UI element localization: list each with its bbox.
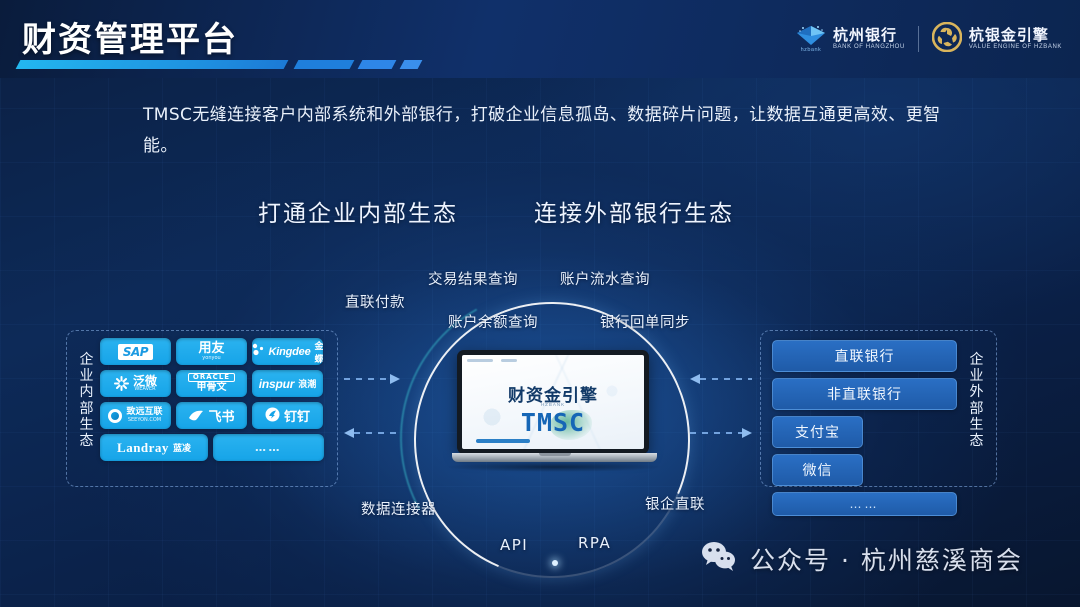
- watermark: 公众号 · 杭州慈溪商会: [700, 540, 1023, 577]
- landray-logo-cn: 蓝凌: [173, 441, 191, 454]
- section-heading-internal: 打通企业内部生态: [258, 194, 458, 228]
- logo-engine-cn: 杭银金引擎: [969, 28, 1062, 44]
- weaver-snowflake-icon: [114, 376, 129, 391]
- arrow-tip: [690, 374, 700, 384]
- orbit-endpoint-dot: [552, 560, 558, 566]
- orbit-label-account-statement: 账户流水查询: [560, 268, 650, 289]
- logo-chip-oracle[interactable]: ORACLE 甲骨文: [176, 370, 247, 397]
- dingtalk-icon: [265, 407, 280, 425]
- diamond-icon: hzbank: [796, 24, 826, 54]
- logo-chip-feishu[interactable]: 飞书: [176, 402, 247, 429]
- dash-line: [344, 378, 390, 380]
- laptop-body: 财资金引擎 HZBANK TMSC: [457, 350, 649, 454]
- connector-arrow-right-out: [690, 430, 752, 436]
- wechat-icon: [700, 540, 738, 577]
- more-dots-label: ……: [255, 441, 282, 454]
- orbit-label-account-balance: 账户余额查询: [448, 311, 538, 332]
- dash-line: [354, 432, 400, 434]
- title-underline-segment-2: [294, 60, 355, 69]
- dingtalk-logo-cn: 钉钉: [284, 406, 310, 425]
- internal-ecosystem-label: 企业内部生态: [78, 352, 96, 449]
- orbit-label-bank-enterprise-link: 银企直联: [645, 493, 705, 514]
- logo-bank-en: BANK OF HANGZHOU: [833, 44, 905, 50]
- logo-bank-cn: 杭州银行: [833, 28, 905, 44]
- yonyou-logo: 用友 yonyou: [198, 342, 224, 361]
- seeyon-circle-icon: [108, 409, 122, 423]
- logo-chip-more[interactable]: ……: [213, 434, 324, 461]
- internal-logo-grid: SAP 用友 yonyou Kingdee 金蝶 泛微: [100, 338, 324, 461]
- arrow-tip: [742, 428, 752, 438]
- laptop-screen: 财资金引擎 HZBANK TMSC: [462, 355, 644, 449]
- arrow-tip: [390, 374, 400, 384]
- page-title: 财资管理平台: [22, 12, 238, 61]
- external-item-wechat[interactable]: 微信: [772, 454, 863, 486]
- kingdee-logo-cn: 金蝶: [315, 339, 324, 365]
- logo-group: hzbank 杭州银行 BANK OF HANGZHOU: [796, 18, 1062, 60]
- orbit-label-api: API: [500, 536, 528, 554]
- arrow-tip: [344, 428, 354, 438]
- orbit-label-transaction-result: 交易结果查询: [428, 268, 518, 289]
- connector-arrow-left-in: [344, 376, 400, 382]
- external-item-alipay[interactable]: 支付宝: [772, 416, 863, 448]
- weaver-logo: 泛微 WEAVER: [133, 375, 157, 393]
- landray-logo-en: Landray: [117, 440, 169, 456]
- logo-chip-kingdee[interactable]: Kingdee 金蝶: [252, 338, 323, 365]
- logo-chip-landray[interactable]: Landray 蓝凌: [100, 434, 208, 461]
- sap-logo-text: SAP: [118, 344, 153, 360]
- laptop-notch: [539, 453, 571, 456]
- external-ecosystem-label: 企业外部生态: [968, 352, 986, 449]
- external-item-more[interactable]: ……: [772, 492, 957, 516]
- watermark-text: 公众号 · 杭州慈溪商会: [750, 541, 1023, 577]
- kingdee-logo-en: Kingdee: [269, 346, 311, 358]
- kingdee-dots-icon: [252, 343, 265, 360]
- screen-subtitle: HZBANK: [462, 402, 644, 407]
- screen-accent-bar: [476, 439, 530, 443]
- logo-chip-seeyon[interactable]: 致远互联 SEEYON.COM: [100, 402, 171, 429]
- orbit-label-data-connector: 数据连接器: [361, 498, 436, 519]
- yonyou-logo-en: yonyou: [202, 356, 220, 361]
- oracle-logo: ORACLE 甲骨文: [188, 373, 235, 394]
- logo-value-engine: 杭银金引擎 VALUE ENGINE OF HZBANK: [932, 22, 1062, 57]
- intro-paragraph: TMSC无缝连接客户内部系统和外部银行，打破企业信息孤岛、数据碎片问题，让数据互…: [143, 100, 973, 163]
- orbit-label-direct-payment: 直联付款: [345, 291, 405, 312]
- header-bar: 财资管理平台 hzbank 杭州银行 BANK: [0, 0, 1080, 78]
- feishu-bird-icon: [188, 409, 204, 422]
- feishu-logo-cn: 飞书: [208, 406, 234, 425]
- laptop-illustration: 财资金引擎 HZBANK TMSC: [452, 350, 657, 475]
- logo-chip-yonyou[interactable]: 用友 yonyou: [176, 338, 247, 365]
- title-underline-segment-3: [358, 60, 397, 69]
- seeyon-logo: 致远互联 SEEYON.COM: [126, 408, 162, 423]
- connector-arrow-right-in: [690, 376, 752, 382]
- orbit-label-bank-receipt-sync: 银行回单同步: [600, 311, 690, 332]
- slide-root: 财资管理平台 hzbank 杭州银行 BANK: [0, 0, 1080, 607]
- connector-arrow-left-out: [344, 430, 400, 436]
- external-item-direct-bank[interactable]: 直联银行: [772, 340, 957, 372]
- section-heading-external: 连接外部银行生态: [534, 194, 734, 228]
- external-item-indirect-bank[interactable]: 非直联银行: [772, 378, 957, 410]
- screen-nav-item-2: [501, 359, 517, 362]
- seeyon-logo-en: SEEYON.COM: [128, 418, 161, 423]
- dash-line: [700, 378, 752, 380]
- inspur-logo-cn: 浪潮: [298, 377, 316, 390]
- dash-line: [690, 432, 742, 434]
- weaver-logo-en: WEAVER: [134, 387, 155, 392]
- title-underline-segment-1: [16, 60, 289, 69]
- laptop-shadow: [444, 462, 664, 472]
- logo-chip-inspur[interactable]: inspur 浪潮: [252, 370, 323, 397]
- external-item-grid: 直联银行 非直联银行 支付宝 微信 ……: [772, 340, 957, 516]
- oracle-logo-cn: 甲骨文: [196, 383, 226, 394]
- inspur-logo-en: inspur: [259, 377, 294, 391]
- orbit-label-rpa: RPA: [578, 534, 611, 552]
- logo-chip-weaver[interactable]: 泛微 WEAVER: [100, 370, 171, 397]
- logo-bank-of-hangzhou: hzbank 杭州银行 BANK OF HANGZHOU: [796, 24, 905, 54]
- logo-chip-sap[interactable]: SAP: [100, 338, 171, 365]
- pinwheel-icon: [932, 22, 962, 57]
- logo-divider: [918, 26, 919, 52]
- title-underline-segment-4: [400, 60, 423, 69]
- screen-nav-item-1: [467, 359, 493, 362]
- yonyou-logo-cn: 用友: [198, 342, 224, 356]
- screen-brand: TMSC: [462, 408, 644, 437]
- screen-navbar: [467, 359, 517, 362]
- logo-mark-text: hzbank: [801, 48, 822, 54]
- logo-chip-dingtalk[interactable]: 钉钉: [252, 402, 323, 429]
- logo-engine-en: VALUE ENGINE OF HZBANK: [969, 44, 1062, 50]
